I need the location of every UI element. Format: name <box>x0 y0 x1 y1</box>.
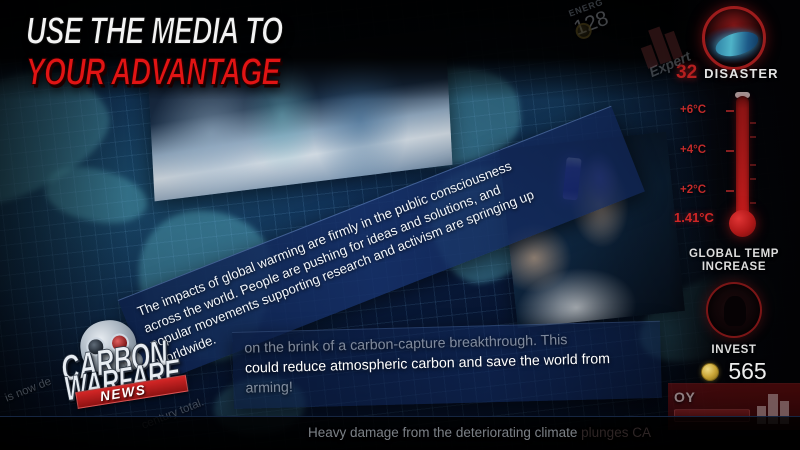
carbon-warfare-news-logo: CARBON WARFARE NEWS <box>56 313 195 424</box>
globe-icon <box>713 27 761 60</box>
thermometer-bulb <box>729 210 756 237</box>
thermometer-tick <box>726 110 734 112</box>
thermometer-tick-minor <box>750 122 756 124</box>
thermometer-tick <box>726 190 734 192</box>
thermometer-tick-label: +4°C <box>680 144 706 156</box>
thermometer-tube <box>736 96 749 220</box>
disaster-label: DISASTER <box>704 66 779 81</box>
thermometer-tick-label: +6°C <box>680 104 706 116</box>
invest-value: 565 <box>728 358 766 385</box>
thermometer-tick <box>726 150 734 152</box>
global-temp-caption-line2: INCREASE <box>668 261 800 274</box>
disaster-globe-icon[interactable] <box>702 6 766 70</box>
ticker-dim-text: plunges CA <box>581 425 651 440</box>
thermometer-tick-minor <box>750 136 756 138</box>
global-temp-caption-line1: GLOBAL TEMP <box>668 248 800 261</box>
destroy-label: OY <box>674 389 695 405</box>
news-story-panel-secondary: on the brink of a carbon-capture breakth… <box>232 321 662 409</box>
thermometer-tick-label: +2°C <box>680 184 706 196</box>
invest-figure-icon[interactable] <box>706 282 762 338</box>
thermometer-tick-minor <box>750 178 756 180</box>
news-ticker-text: Heavy damage from the deteriorating clim… <box>308 425 651 440</box>
invest-readout: 565 <box>668 358 800 385</box>
global-temp-caption: GLOBAL TEMP INCREASE <box>668 248 800 274</box>
disaster-readout: 32 DISASTER <box>676 62 796 84</box>
invest-silhouette <box>724 296 746 326</box>
news-ticker-bar: Heavy damage from the deteriorating clim… <box>0 416 800 450</box>
thermometer-tick-minor <box>750 164 756 166</box>
invest-label: INVEST <box>668 344 800 357</box>
thermometer-tick-minor <box>750 202 756 204</box>
hud-sidebar: 32 DISASTER +6°C +4°C +2°C 1.41°C GLOBAL… <box>668 0 800 450</box>
gold-coin-icon <box>701 363 719 381</box>
global-temp-value: 1.41°C <box>674 210 714 225</box>
game-screen: is now de century total. The impacts of … <box>0 0 800 450</box>
ticker-visible-text: Heavy damage from the deteriorating clim… <box>308 425 577 440</box>
